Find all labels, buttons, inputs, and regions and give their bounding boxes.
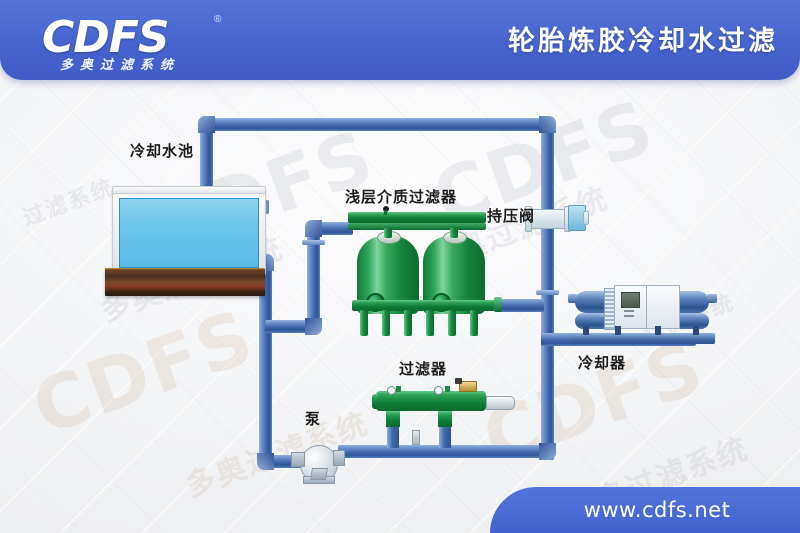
filter-vent-stem (384, 210, 387, 215)
filter-tank-2-neck (450, 228, 458, 238)
cooler-display-screen (621, 292, 640, 308)
pipe-elbow-bottom-right (539, 443, 556, 460)
strainer-nub-1 (396, 386, 401, 392)
label-cooling-pool: 冷却水池 (130, 140, 194, 161)
filter-tank-1-neck (384, 228, 392, 238)
page-title: 轮胎炼胶冷却水过滤 (508, 19, 778, 58)
strainer-drain (412, 430, 420, 445)
label-media-filter: 浅层介质过滤器 (345, 186, 457, 207)
logo-subtitle: 多奥过滤系统 (60, 54, 180, 73)
pipe-joint-d (536, 290, 559, 295)
pipe-elbow-topleft (198, 116, 215, 133)
filter-leg-1 (360, 310, 368, 336)
strainer-control-block (455, 378, 462, 384)
pump-discharge-flange (333, 450, 345, 466)
valve-actuator-stem (583, 211, 589, 225)
cooler-nozzle-right (707, 294, 717, 303)
filter-leg-2 (382, 310, 390, 336)
cooler-leg-1 (583, 326, 589, 335)
filter-leg-4 (426, 310, 434, 336)
strainer-discharge-nozzle (486, 396, 515, 410)
filter-outlet-pipe (496, 299, 544, 312)
page-header: CDFS ® 多奥过滤系统 轮胎炼胶冷却水过滤 (0, 0, 800, 80)
pump-suction-flange (291, 452, 305, 467)
brand-logo: CDFS ® 多奥过滤系统 (42, 12, 252, 70)
strainer-leg-2 (439, 427, 451, 448)
strainer-gauge-1-icon (387, 386, 396, 395)
cooler-panel-line-1 (624, 310, 634, 312)
diagram-canvas: CDFSCDFSCDFSCDFS多奥过滤系统多奥过滤系统多奥过滤系统多奥过滤系统… (0, 0, 800, 533)
strainer-end-left (372, 394, 378, 409)
pipe-joint-c (302, 240, 325, 245)
label-strainer: 过滤器 (399, 358, 447, 379)
cooler-control-panel-right (646, 285, 680, 329)
filter-top-header (348, 212, 486, 223)
cooler-nozzle-left (568, 294, 578, 303)
pipe-top-main (200, 118, 554, 131)
cooler-leg-2 (615, 326, 621, 335)
filter-leg-3 (404, 310, 412, 336)
footer-bar: www.cdfs.net (490, 487, 800, 533)
label-pump: 泵 (305, 408, 321, 429)
cooler-panel-line-2 (624, 315, 634, 317)
strainer-downleg-2 (438, 411, 452, 427)
strainer-downleg-1 (386, 411, 400, 427)
pump-pedestal (310, 468, 328, 480)
pipe-right-riser (541, 118, 554, 460)
pool-base-platform (105, 268, 265, 296)
pipe-elbow-bottom-left (257, 453, 274, 470)
filter-leg-5 (448, 310, 456, 336)
label-pressure-valve: 持压阀 (487, 205, 535, 226)
pipe-elbow-mid-branch (305, 318, 322, 335)
filter-leg-6 (470, 310, 478, 336)
filter-outlet-flange (494, 297, 502, 312)
filter-top-header-lower (348, 223, 486, 230)
pool-water (119, 198, 259, 268)
strainer-nub-2 (445, 386, 450, 392)
pipe-elbow-topright (539, 116, 556, 133)
strainer-leg-1 (387, 427, 399, 448)
strainer-gauge-2-icon (434, 386, 443, 395)
cooler-leg-3 (655, 326, 661, 335)
footer-website-url[interactable]: www.cdfs.net (560, 498, 731, 522)
pipe-elbow-filter-feed (305, 220, 322, 237)
label-cooler: 冷却器 (578, 352, 626, 373)
logo-registered-icon: ® (214, 14, 221, 25)
cooler-leg-4 (693, 326, 699, 335)
